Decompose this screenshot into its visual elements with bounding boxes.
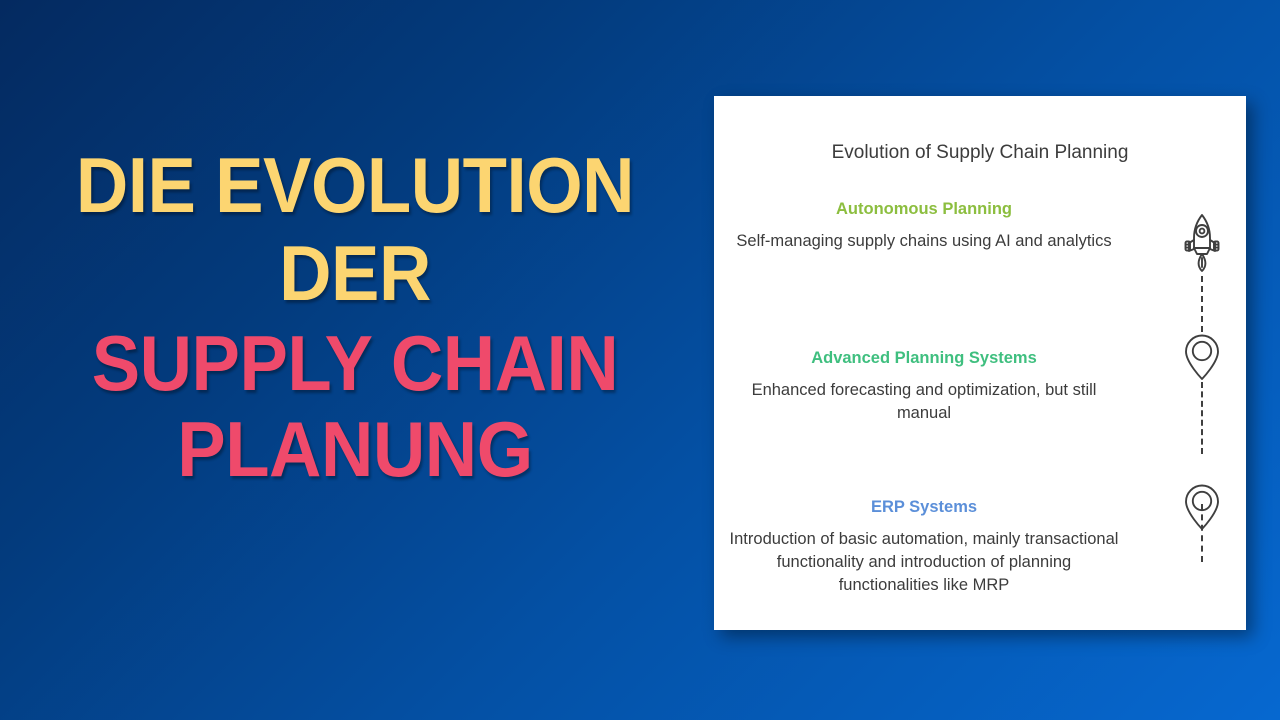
headline-line-3: SUPPLY CHAIN — [25, 326, 685, 400]
headline-line-2: DER — [25, 236, 685, 310]
stage-heading: ERP Systems — [728, 498, 1120, 517]
stage-item-autonomous-planning: Autonomous Planning Self-managing supply… — [728, 200, 1120, 253]
headline-line-1: DIE EVOLUTION — [25, 148, 685, 222]
stage-heading: Autonomous Planning — [728, 200, 1120, 219]
stage-body: Introduction of basic automation, mainly… — [728, 528, 1120, 596]
rocket-icon — [1172, 210, 1232, 276]
timeline-connector — [1201, 504, 1203, 562]
map-pin-icon — [1172, 332, 1232, 382]
card-title: Evolution of Supply Chain Planning — [714, 142, 1246, 164]
timeline-card: Evolution of Supply Chain Planning Auton… — [714, 96, 1246, 630]
timeline-connector — [1201, 382, 1203, 454]
stage-heading: Advanced Planning Systems — [728, 349, 1120, 368]
headline-line-4: PLANUNG — [25, 412, 685, 486]
stage-item-advanced-planning-systems: Advanced Planning Systems Enhanced forec… — [728, 349, 1120, 425]
stage-body: Self-managing supply chains using AI and… — [728, 230, 1120, 253]
slide-canvas: DIE EVOLUTION DER SUPPLY CHAIN PLANUNG E… — [0, 0, 1280, 720]
stage-item-erp-systems: ERP Systems Introduction of basic automa… — [728, 498, 1120, 596]
timeline-connector — [1201, 276, 1203, 332]
headline-block: DIE EVOLUTION DER SUPPLY CHAIN PLANUNG — [0, 148, 710, 486]
stage-body: Enhanced forecasting and optimization, b… — [728, 379, 1120, 425]
timeline-rail — [1172, 192, 1232, 612]
